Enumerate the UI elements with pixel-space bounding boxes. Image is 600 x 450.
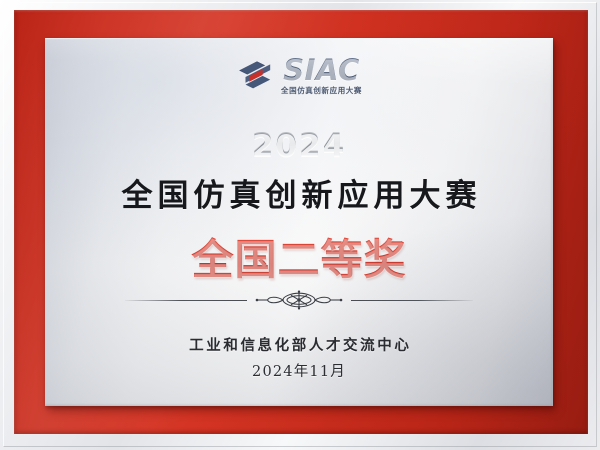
competition-title: 全国仿真创新应用大赛 bbox=[45, 170, 553, 215]
award-plaque-photo: SIAC 全国仿真创新应用大赛 2024 全国仿真创新应用大赛 全国二等奖 bbox=[0, 0, 600, 450]
divider-rule-right bbox=[351, 300, 473, 301]
flourish-ornament-icon bbox=[253, 290, 345, 310]
issue-date: 2024年11月 bbox=[45, 360, 553, 381]
divider-rule-left bbox=[125, 300, 247, 301]
siac-logo-subtitle: 全国仿真创新应用大赛 bbox=[281, 87, 362, 95]
issuing-organization: 工业和信息化部人才交流中心 bbox=[45, 334, 553, 355]
ornamental-divider bbox=[45, 290, 553, 310]
siac-wordmark: SIAC bbox=[283, 56, 360, 85]
award-rank: 全国二等奖 bbox=[45, 226, 553, 287]
siac-diamond-logo-icon bbox=[236, 56, 274, 94]
award-year: 2024 bbox=[45, 128, 553, 164]
metal-plaque: SIAC 全国仿真创新应用大赛 2024 全国仿真创新应用大赛 全国二等奖 bbox=[45, 38, 553, 406]
siac-logo-lockup: SIAC 全国仿真创新应用大赛 bbox=[45, 56, 553, 95]
